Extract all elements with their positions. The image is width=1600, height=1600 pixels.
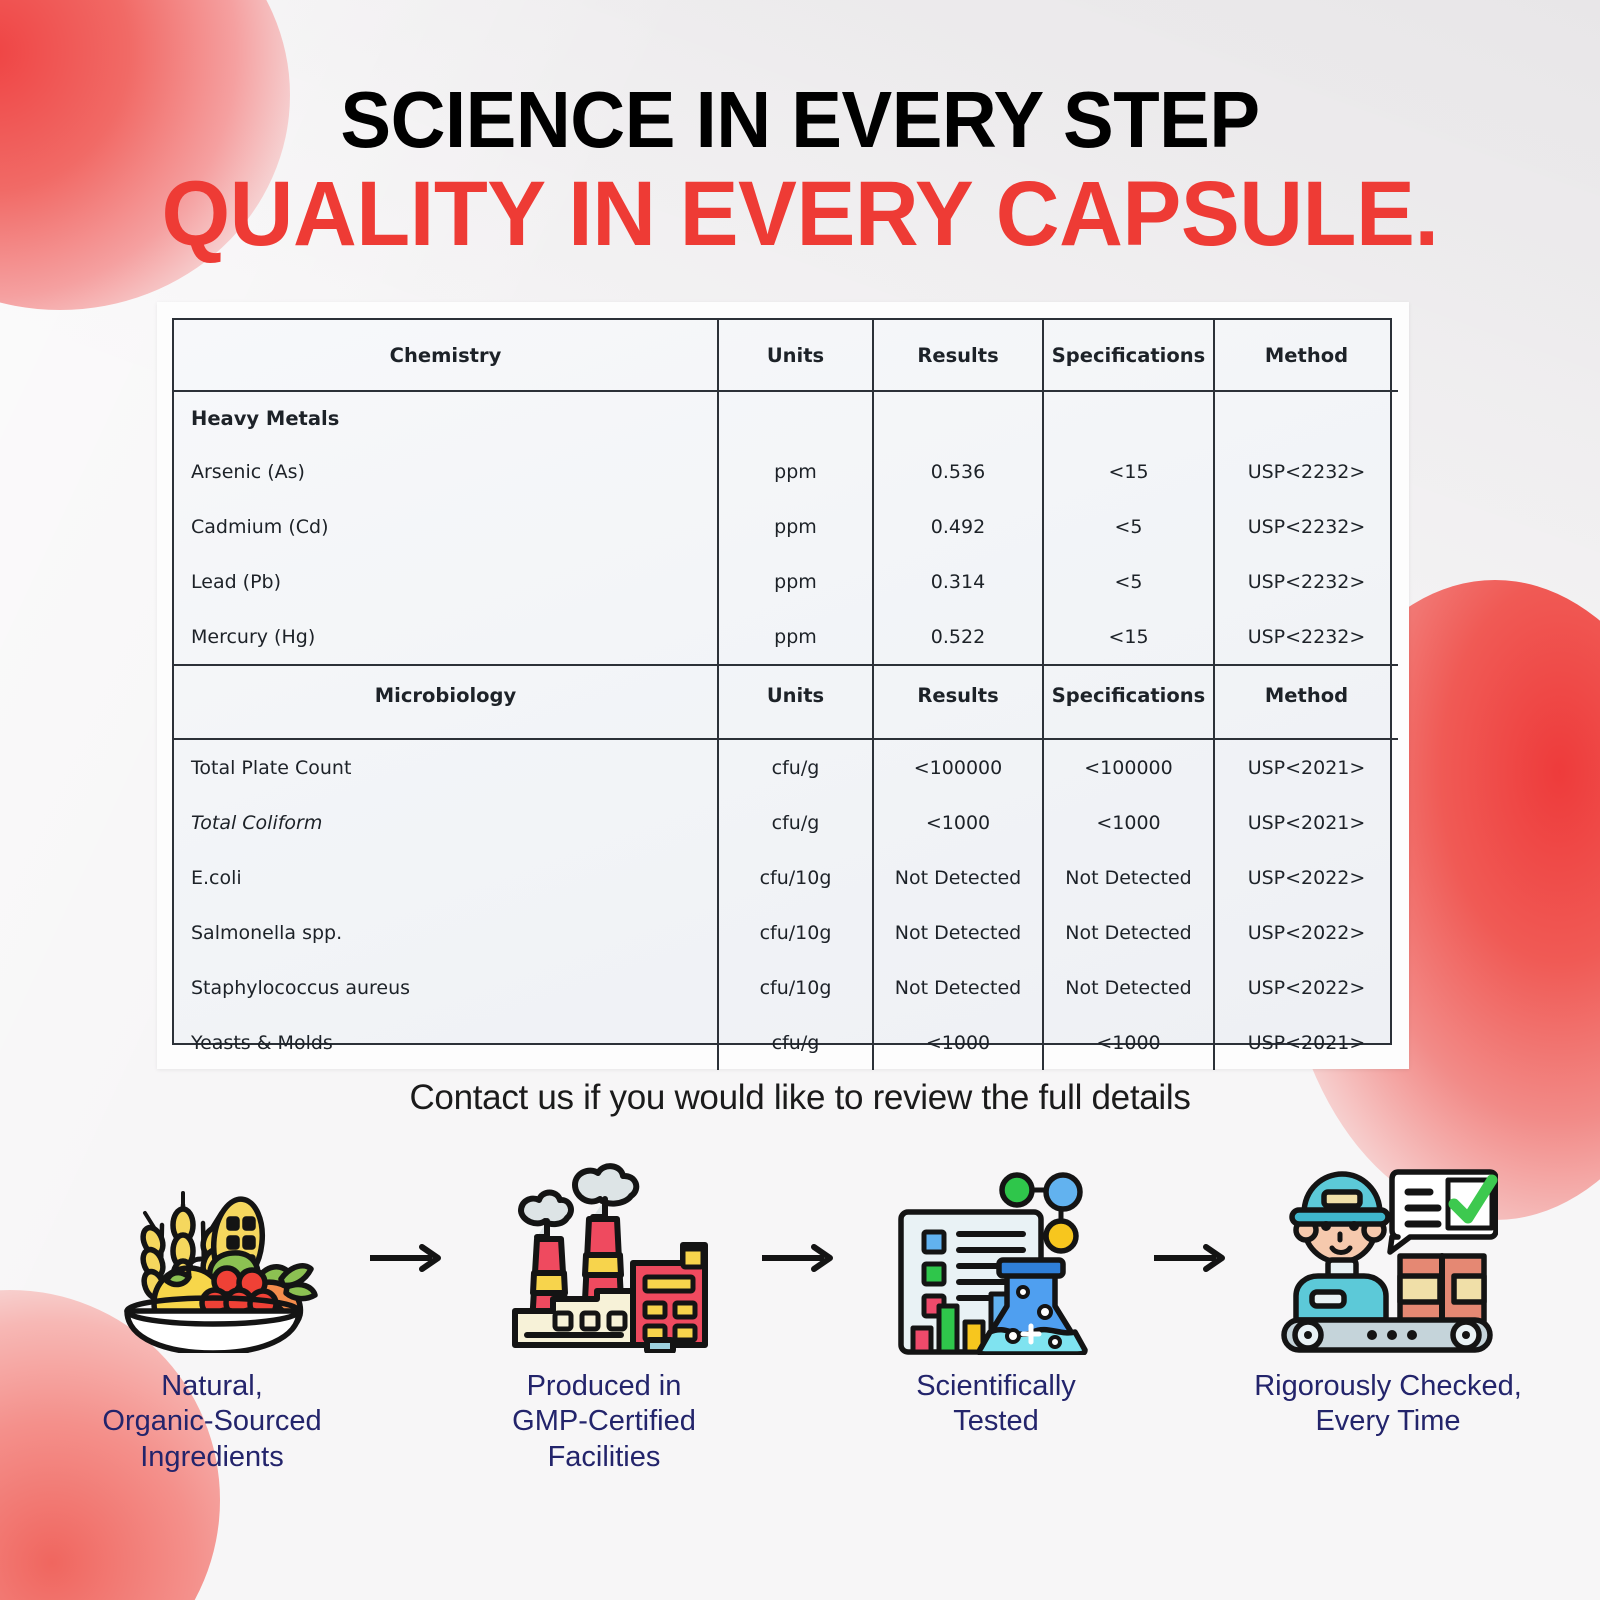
analyte-name: Lead (Pb) xyxy=(174,554,718,609)
table-header-chemistry: Chemistry Units Results Specifications M… xyxy=(174,320,1398,391)
step-arrow-1 xyxy=(362,1160,454,1355)
analyte-units: cfu/10g xyxy=(718,905,873,960)
headline-secondary: QUALITY IN EVERY CAPSULE. xyxy=(32,168,1568,260)
analyte-units: ppm xyxy=(718,609,873,665)
headline-primary: SCIENCE IN EVERY STEP xyxy=(40,80,1560,160)
analyte-spec: Not Detected xyxy=(1043,960,1214,1015)
factory-art xyxy=(497,1160,712,1355)
qc-worker-art xyxy=(1278,1160,1498,1355)
table-row: Arsenic (As) ppm 0.536 <15 USP<2232> xyxy=(174,444,1398,499)
header-results-mb: Results xyxy=(873,665,1043,724)
analyte-result: Not Detected xyxy=(873,905,1043,960)
analyte-method: USP<2021> xyxy=(1214,1015,1398,1070)
analyte-result: 0.536 xyxy=(873,444,1043,499)
table-row: Yeasts & Molds cfu/g <1000 <1000 USP<202… xyxy=(174,1015,1398,1070)
qc-worker-icon xyxy=(1278,1160,1498,1355)
analyte-result: 0.492 xyxy=(873,499,1043,554)
analyte-method: USP<2232> xyxy=(1214,609,1398,665)
table-row: Mercury (Hg) ppm 0.522 <15 USP<2232> xyxy=(174,609,1398,665)
arrow-right-icon xyxy=(760,1243,840,1273)
certificate-of-analysis-table: Chemistry Units Results Specifications M… xyxy=(174,320,1398,1070)
header-units: Units xyxy=(718,320,873,391)
header-microbiology: Microbiology xyxy=(174,665,718,724)
analyte-units: cfu/10g xyxy=(718,850,873,905)
analyte-units: ppm xyxy=(718,499,873,554)
analyte-result: Not Detected xyxy=(873,850,1043,905)
table-row: Total Plate Count cfu/g <100000 <100000 … xyxy=(174,739,1398,795)
molecule-node-blue xyxy=(1046,1175,1080,1209)
analyte-name: Salmonella spp. xyxy=(174,905,718,960)
factory-icon xyxy=(497,1163,712,1353)
step-natural-ingredients: Natural,Organic-SourcedIngredients xyxy=(62,1160,362,1475)
step-arrow-3 xyxy=(1146,1160,1238,1355)
fruit-bowl-icon xyxy=(105,1163,320,1353)
analyte-name: Arsenic (As) xyxy=(174,444,718,499)
analyte-method: USP<2022> xyxy=(1214,960,1398,1015)
analyte-units: ppm xyxy=(718,444,873,499)
analyte-result: <1000 xyxy=(873,795,1043,850)
analyte-method: USP<2021> xyxy=(1214,739,1398,795)
contact-note: Contact us if you would like to review t… xyxy=(0,1078,1600,1118)
header-chemistry: Chemistry xyxy=(174,320,718,391)
analyte-name: E.coli xyxy=(174,850,718,905)
analyte-units: ppm xyxy=(718,554,873,609)
table-row: Lead (Pb) ppm 0.314 <5 USP<2232> xyxy=(174,554,1398,609)
lab-analysis-icon xyxy=(889,1160,1104,1355)
analyte-spec: <5 xyxy=(1043,554,1214,609)
analyte-result: <1000 xyxy=(873,1015,1043,1070)
rule-cell xyxy=(718,724,873,739)
step-quality-check: Rigorously Checked,Every Time xyxy=(1238,1160,1538,1440)
analyte-result: Not Detected xyxy=(873,960,1043,1015)
header-units-mb: Units xyxy=(718,665,873,724)
analyte-spec: Not Detected xyxy=(1043,905,1214,960)
step-caption: ScientificallyTested xyxy=(916,1369,1076,1440)
analyte-result: <100000 xyxy=(873,739,1043,795)
analyte-spec: <15 xyxy=(1043,609,1214,665)
step-caption: Produced inGMP-CertifiedFacilities xyxy=(512,1369,696,1475)
spacer-spec xyxy=(1043,391,1214,444)
analyte-spec: Not Detected xyxy=(1043,850,1214,905)
step-caption: Rigorously Checked,Every Time xyxy=(1254,1369,1522,1440)
rule-cell xyxy=(1214,724,1398,739)
analyte-result: 0.314 xyxy=(873,554,1043,609)
arrow-right-icon xyxy=(368,1243,448,1273)
analyte-method: USP<2232> xyxy=(1214,499,1398,554)
analyte-name: Staphylococcus aureus xyxy=(174,960,718,1015)
rule-cell xyxy=(174,724,718,739)
step-arrow-2 xyxy=(754,1160,846,1355)
step-caption: Natural,Organic-SourcedIngredients xyxy=(102,1369,321,1475)
analyte-name: Mercury (Hg) xyxy=(174,609,718,665)
header-method-mb: Method xyxy=(1214,665,1398,724)
header-method: Method xyxy=(1214,320,1398,391)
analyte-result: 0.522 xyxy=(873,609,1043,665)
analyte-spec: <100000 xyxy=(1043,739,1214,795)
spacer-units xyxy=(718,391,873,444)
analyte-spec: <5 xyxy=(1043,499,1214,554)
table-header-microbiology: Microbiology Units Results Specification… xyxy=(174,665,1398,724)
analyte-method: USP<2022> xyxy=(1214,850,1398,905)
section-label-heavy-metals-row: Heavy Metals xyxy=(174,391,1398,444)
analyte-name: Total Coliform xyxy=(174,795,718,850)
analyte-name: Total Plate Count xyxy=(174,739,718,795)
header-results: Results xyxy=(873,320,1043,391)
table-row: Cadmium (Cd) ppm 0.492 <5 USP<2232> xyxy=(174,499,1398,554)
spacer-method xyxy=(1214,391,1398,444)
microbiology-header-rule xyxy=(174,724,1398,739)
analyte-method: USP<2022> xyxy=(1214,905,1398,960)
section-label-heavy-metals: Heavy Metals xyxy=(174,391,718,444)
analyte-name: Yeasts & Molds xyxy=(174,1015,718,1070)
header-specifications-mb: Specifications xyxy=(1043,665,1214,724)
analyte-method: USP<2232> xyxy=(1214,444,1398,499)
analyte-units: cfu/g xyxy=(718,795,873,850)
rule-cell xyxy=(1043,724,1214,739)
analyte-name: Cadmium (Cd) xyxy=(174,499,718,554)
arrow-right-icon xyxy=(1152,1243,1232,1273)
analyte-method: USP<2021> xyxy=(1214,795,1398,850)
analyte-units: cfu/g xyxy=(718,739,873,795)
step-scientific-testing: ScientificallyTested xyxy=(846,1160,1146,1440)
process-steps-strip: Natural,Organic-SourcedIngredients xyxy=(60,1160,1540,1540)
fruit-bowl-art xyxy=(105,1160,320,1355)
step-gmp-facility: Produced inGMP-CertifiedFacilities xyxy=(454,1160,754,1475)
molecule-node-green xyxy=(1002,1175,1032,1205)
lab-analysis-art xyxy=(889,1160,1104,1355)
lab-report-panel: Chemistry Units Results Specifications M… xyxy=(157,302,1409,1069)
analyte-spec: <1000 xyxy=(1043,1015,1214,1070)
scanned-report-sheet: Chemistry Units Results Specifications M… xyxy=(172,318,1392,1045)
table-row: Salmonella spp. cfu/10g Not Detected Not… xyxy=(174,905,1398,960)
analyte-spec: <1000 xyxy=(1043,795,1214,850)
table-row: Total Coliform cfu/g <1000 <1000 USP<202… xyxy=(174,795,1398,850)
analyte-spec: <15 xyxy=(1043,444,1214,499)
table-row: Staphylococcus aureus cfu/10g Not Detect… xyxy=(174,960,1398,1015)
table-row: E.coli cfu/10g Not Detected Not Detected… xyxy=(174,850,1398,905)
spacer-results xyxy=(873,391,1043,444)
rule-cell xyxy=(873,724,1043,739)
analyte-method: USP<2232> xyxy=(1214,554,1398,609)
molecule-node-yellow xyxy=(1046,1221,1076,1251)
analyte-units: cfu/10g xyxy=(718,960,873,1015)
header-specifications: Specifications xyxy=(1043,320,1214,391)
poster-root: SCIENCE IN EVERY STEP QUALITY IN EVERY C… xyxy=(0,0,1600,1600)
analyte-units: cfu/g xyxy=(718,1015,873,1070)
